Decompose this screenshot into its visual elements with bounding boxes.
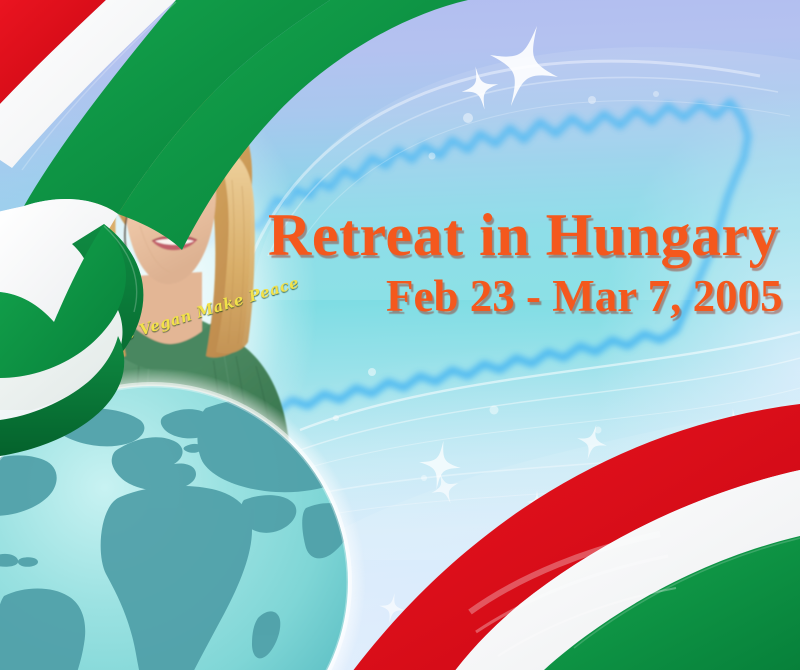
title-block: Retreat in Hungary Feb 23 - Mar 7, 2005 bbox=[268, 205, 788, 320]
flag-wisps bbox=[0, 0, 800, 670]
poster-canvas: Be Vegan Make Peace bbox=[0, 0, 800, 670]
event-dates: Feb 23 - Mar 7, 2005 bbox=[386, 273, 788, 320]
page-title: Retreat in Hungary bbox=[268, 205, 788, 265]
